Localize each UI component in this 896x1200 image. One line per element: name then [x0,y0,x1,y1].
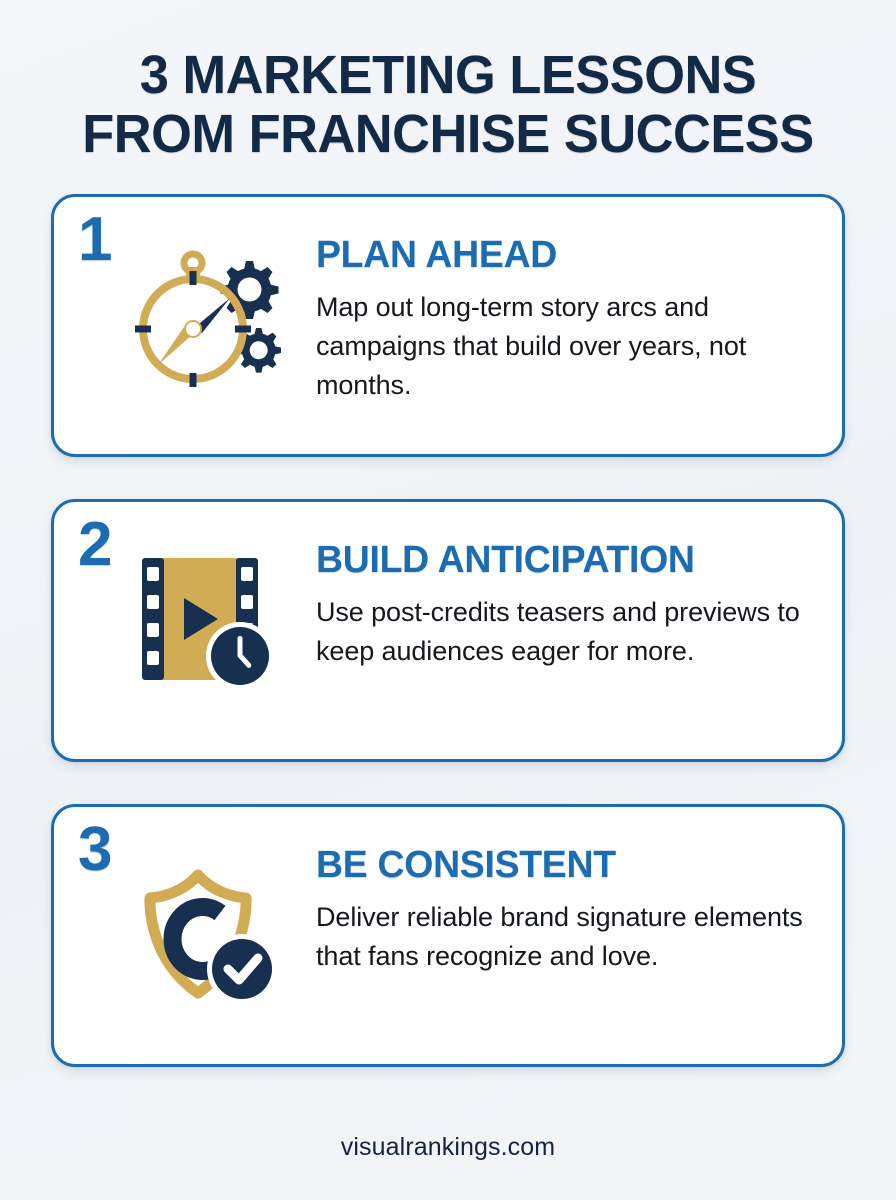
page-title: 3 MARKETING LESSONS FROM FRANCHISE SUCCE… [0,0,896,164]
lesson-card-list: 1 [0,194,896,1067]
lesson-body-3: Deliver reliable brand signature element… [316,898,820,976]
lesson-card-1: 1 [51,194,845,457]
shield-check-icon [136,865,288,1007]
lesson-heading-3: BE CONSISTENT [316,845,812,886]
footer: visualrankings.com [0,1133,896,1200]
film-strip-clock-icon [136,550,286,695]
infographic-poster: 3 MARKETING LESSONS FROM FRANCHISE SUCCE… [0,0,896,1200]
lesson-text-2: BUILD ANTICIPATION Use post-credits teas… [316,540,820,671]
lesson-body-1: Map out long-term story arcs and campaig… [316,288,820,405]
title-line-2: FROM FRANCHISE SUCCESS [46,105,849,164]
lesson-number-2: 2 [78,514,112,576]
lesson-heading-2: BUILD ANTICIPATION [316,540,812,581]
lesson-text-3: BE CONSISTENT Deliver reliable brand sig… [316,845,820,976]
lesson-card-2: 2 [51,499,845,762]
lesson-body-2: Use post-credits teasers and previews to… [316,593,820,671]
lesson-number-3: 3 [78,819,112,881]
compass-gears-icon [134,243,294,393]
footer-website: visualrankings.com [341,1133,555,1161]
lesson-heading-1: PLAN AHEAD [316,235,812,276]
lesson-card-3: 3 BE CONSISTENT Deliver reliable brand s… [51,804,845,1067]
lesson-text-1: PLAN AHEAD Map out long-term story arcs … [316,235,820,405]
lesson-number-1: 1 [78,209,112,271]
title-line-1: 3 MARKETING LESSONS [46,46,849,105]
